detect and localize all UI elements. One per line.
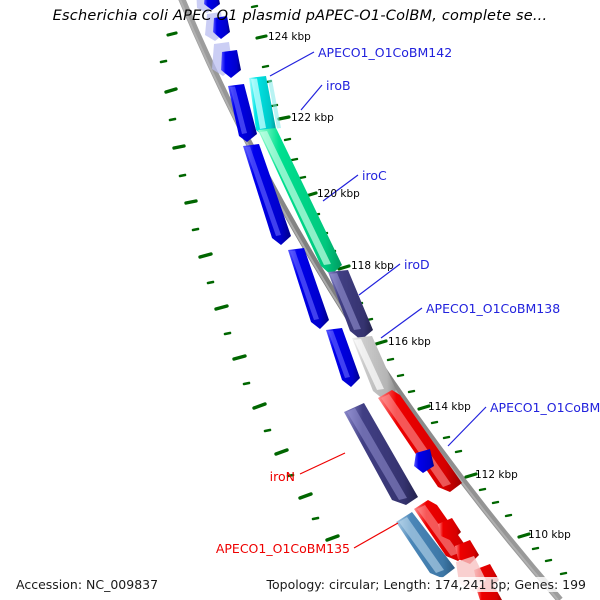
gene-label-bm138[interactable]: APECO1_O1CoBM138 bbox=[426, 301, 560, 316]
gene-label-iron[interactable]: iroN bbox=[270, 469, 295, 484]
gene-label-irob[interactable]: iroB bbox=[326, 78, 351, 93]
gene-label-iroc[interactable]: iroC bbox=[362, 168, 387, 183]
circular-map-canvas[interactable]: 124 kbp 122 kbp 120 kbp 118 kbp 116 kbp … bbox=[0, 0, 600, 600]
accession-label: Accession: NC_009837 bbox=[14, 577, 160, 592]
tick-label: 124 kbp bbox=[268, 31, 311, 43]
status-bar: Accession: NC_009837 Topology: circular;… bbox=[0, 570, 600, 600]
tick-label: 122 kbp bbox=[291, 112, 334, 124]
tick-label: 110 kbp bbox=[528, 529, 571, 541]
tick-label: 118 kbp bbox=[351, 260, 394, 272]
tick-label: 114 kbp bbox=[428, 401, 471, 413]
tick-label: 112 kbp bbox=[475, 469, 518, 481]
tick-label: 116 kbp bbox=[388, 336, 431, 348]
gene-label-bm135[interactable]: APECO1_O1CoBM135 bbox=[216, 541, 350, 556]
gene-label-irod[interactable]: iroD bbox=[404, 257, 430, 272]
sequence-summary-label: Topology: circular; Length: 174,241 bp; … bbox=[265, 577, 589, 592]
gene-label-bm142[interactable]: APECO1_O1CoBM142 bbox=[318, 45, 452, 60]
tick-label: 120 kbp bbox=[317, 188, 360, 200]
gene-label-bm136[interactable]: APECO1_O1CoBM136 bbox=[490, 400, 600, 415]
genome-map-viewer[interactable]: 124 kbp 122 kbp 120 kbp 118 kbp 116 kbp … bbox=[0, 0, 600, 600]
